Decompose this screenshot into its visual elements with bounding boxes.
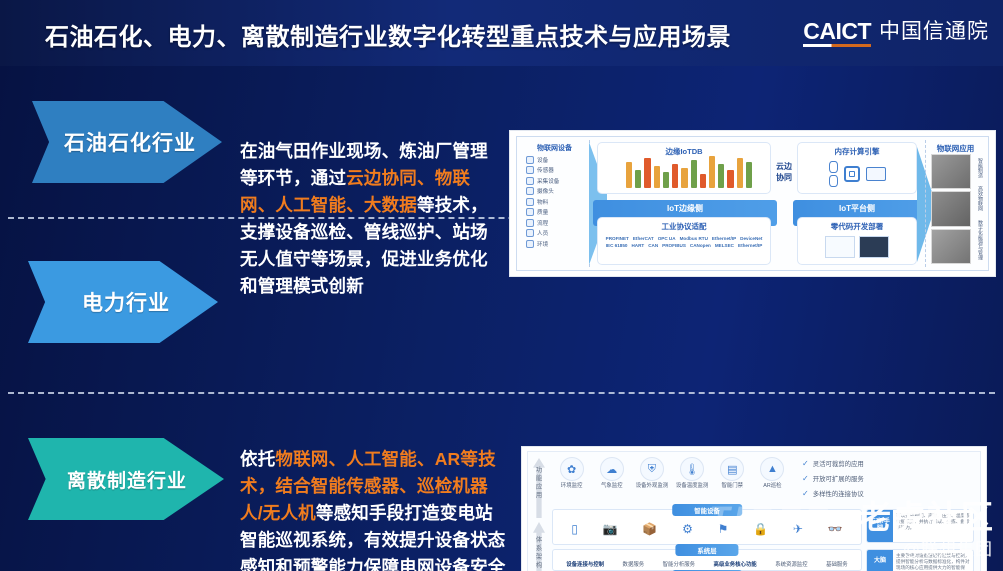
row-power: 电力行业 依托物联网、人工智能、AR等技术，结合智能传感器、巡检机器人/无人机等… bbox=[0, 218, 1003, 392]
arrow-label-2: 电力行业 bbox=[82, 287, 170, 317]
logo-en-text: CAICT bbox=[803, 20, 871, 47]
application-vertical-label: 智能制造 bbox=[972, 158, 984, 178]
band-iot-platform-title: IoT平台侧 bbox=[793, 203, 921, 214]
application-vertical-label: 高效物联网 bbox=[972, 186, 984, 211]
app-thumbnail bbox=[931, 154, 971, 189]
iot-device-label: 物料 bbox=[537, 198, 548, 206]
arrow-shape-3: 离散制造行业 bbox=[28, 438, 224, 520]
slide-header: 石油石化、电力、离散制造行业数字化转型重点技术与应用场景 CAICT 中国信通院 bbox=[0, 0, 1003, 66]
chart-bar bbox=[626, 162, 632, 188]
chart-bar bbox=[737, 158, 743, 188]
chart-bar bbox=[718, 164, 724, 188]
chart-bar bbox=[654, 166, 660, 188]
chart-bar bbox=[672, 164, 678, 188]
page-title: 石油石化、电力、离散制造行业数字化转型重点技术与应用场景 bbox=[45, 17, 731, 52]
database-icon bbox=[829, 161, 838, 187]
chart-bar bbox=[709, 156, 715, 188]
card-memory-engine-title: 内存计算引擎 bbox=[798, 146, 916, 157]
device-icon bbox=[526, 198, 534, 206]
arrow-label-3: 离散制造行业 bbox=[67, 466, 187, 493]
row-discrete-manufacturing: 离散制造行业 基于云计算、人工智能、大数据等技术，打造智能排产云平台，将生产作业… bbox=[0, 393, 1003, 571]
iot-device-label: 质量 bbox=[537, 208, 548, 216]
band-iot-edge-title: IoT边缘侧 bbox=[593, 203, 777, 214]
slide-canvas: 石油石化、电力、离散制造行业数字化转型重点技术与应用场景 CAICT 中国信通院… bbox=[0, 0, 1003, 571]
bar-chart-icon bbox=[626, 156, 752, 188]
iot-device-column-title: 物联网设备 bbox=[520, 143, 589, 153]
iot-applications-title: 物联网应用 bbox=[926, 143, 985, 154]
arrow-oil-petrochemical[interactable]: 石油石化行业 bbox=[32, 101, 222, 183]
arrow-shape-2: 电力行业 bbox=[28, 261, 218, 343]
monitor-icon bbox=[866, 167, 886, 181]
watermark-ghost: TIGER bbox=[705, 500, 837, 539]
chart-bar bbox=[681, 168, 687, 188]
chart-bar bbox=[727, 170, 733, 188]
iot-device-item: 摄像头 bbox=[526, 187, 589, 195]
iot-device-label: 设备 bbox=[537, 156, 548, 164]
iot-device-label: 采集设备 bbox=[537, 177, 559, 185]
chart-bar bbox=[691, 160, 697, 188]
iot-device-item: 物料 bbox=[526, 198, 589, 206]
watermark-sub: @联想集团 bbox=[903, 535, 993, 560]
chart-bar bbox=[635, 170, 641, 188]
device-icon bbox=[526, 187, 534, 195]
row-oil-petrochemical: 石油石化行业 在油气田作业现场、炼油厂管理等环节，通过云边协同、物联网、人工智能… bbox=[0, 66, 1003, 217]
device-icon bbox=[526, 166, 534, 174]
iot-device-item: 设备 bbox=[526, 156, 589, 164]
chart-bar bbox=[700, 174, 706, 188]
caict-logo: CAICT 中国信通院 bbox=[803, 20, 989, 47]
device-icon bbox=[526, 177, 534, 185]
chart-bar bbox=[644, 158, 650, 188]
card-edge-iotdb: 边缘IoTDB bbox=[597, 142, 771, 194]
arrow-shape-1: 石油石化行业 bbox=[32, 101, 222, 183]
memory-engine-icons bbox=[798, 161, 916, 187]
arrow-discrete-manufacturing[interactable]: 离散制造行业 bbox=[28, 438, 224, 520]
card-memory-engine: 内存计算引擎 bbox=[797, 142, 917, 194]
iot-device-label: 摄像头 bbox=[537, 187, 554, 195]
arrow-power[interactable]: 电力行业 bbox=[28, 261, 218, 343]
device-icon bbox=[526, 156, 534, 164]
chart-bar bbox=[746, 162, 752, 188]
device-icon bbox=[526, 208, 534, 216]
arrow-label-1: 石油石化行业 bbox=[64, 127, 196, 157]
label-cloud-edge-collab: 云边协同 bbox=[776, 161, 792, 183]
iot-device-item: 质量 bbox=[526, 208, 589, 216]
iot-device-label: 传感器 bbox=[537, 166, 554, 174]
iot-device-item: 采集设备 bbox=[526, 177, 589, 185]
logo-cn-text: 中国信通院 bbox=[879, 21, 989, 47]
iot-device-item: 传感器 bbox=[526, 166, 589, 174]
watermark-main: 老虎社区 bbox=[859, 492, 995, 538]
chart-bar bbox=[663, 172, 669, 188]
chip-icon bbox=[844, 166, 860, 182]
